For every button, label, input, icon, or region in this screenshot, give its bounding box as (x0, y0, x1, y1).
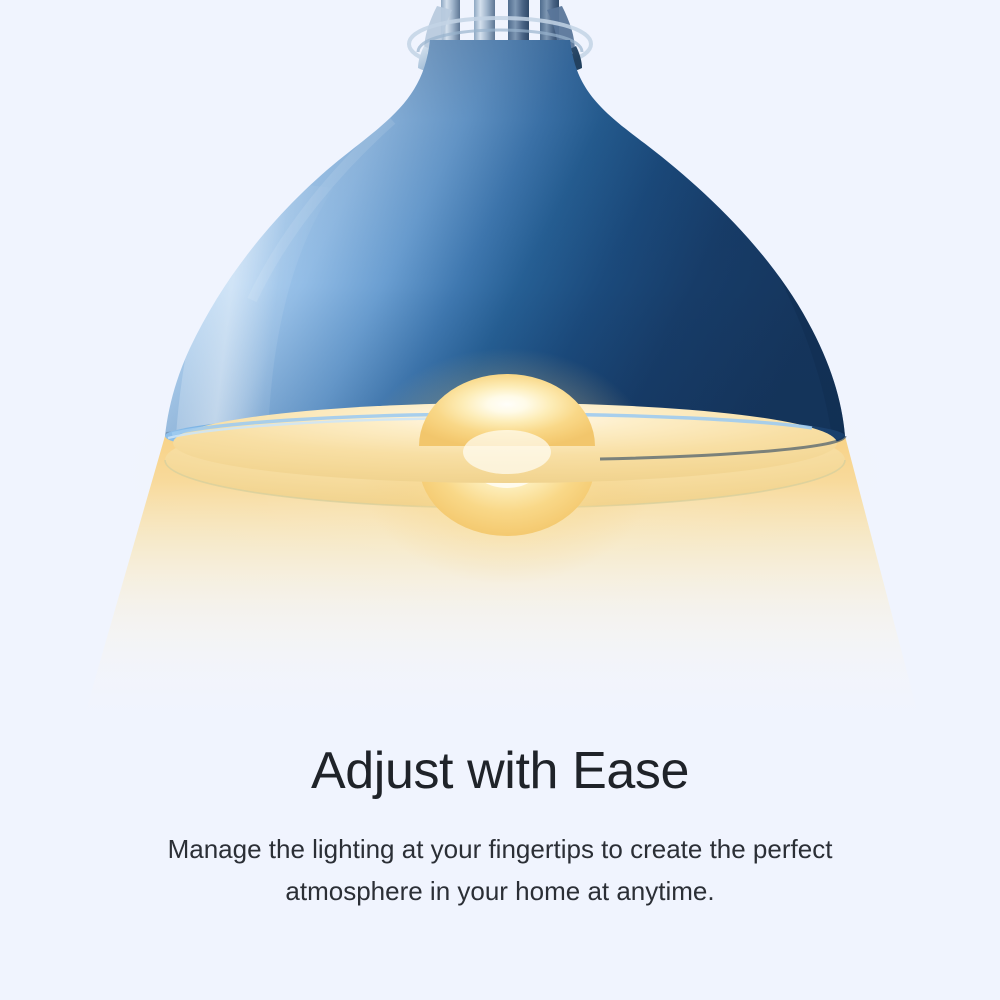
lamp-illustration (0, 0, 1000, 760)
page-title: Adjust with Ease (0, 742, 1000, 800)
page-subtitle: Manage the lighting at your fingertips t… (130, 828, 870, 912)
hero-section: Adjust with Ease Manage the lighting at … (0, 0, 1000, 1000)
caption-block: Adjust with Ease Manage the lighting at … (0, 742, 1000, 912)
